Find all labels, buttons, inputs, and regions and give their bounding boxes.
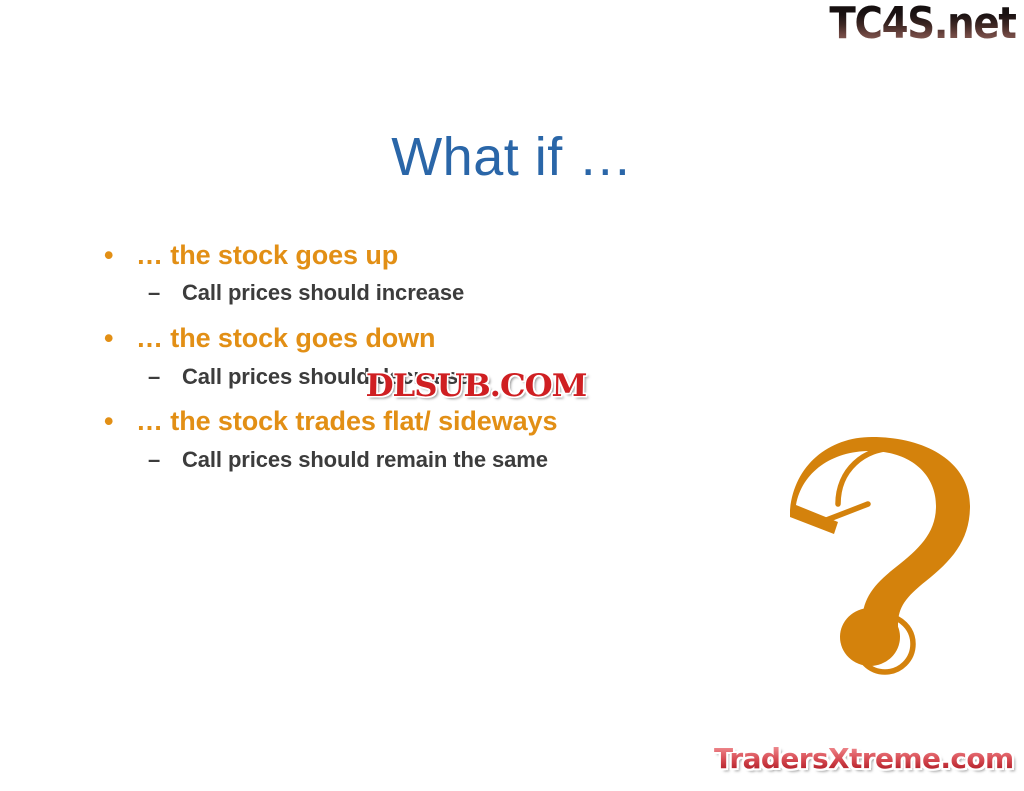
- bullet-level1-label: … the stock trades flat/ sideways: [136, 406, 557, 436]
- dash-marker-icon: –: [148, 361, 160, 393]
- bullet-group: • … the stock goes up – Call prices shou…: [96, 236, 796, 309]
- watermark-tradersxtreme: TradersXtreme.com: [714, 745, 1014, 773]
- dash-marker-icon: –: [148, 444, 160, 476]
- bullet-level2: – Call prices should remain the same: [96, 444, 796, 476]
- watermark-dlsub: DLSUB.COM: [365, 371, 586, 402]
- slide-title: What if …: [0, 128, 1024, 187]
- bullet-level2-label: Call prices should increase: [182, 280, 464, 305]
- bullet-level2: – Call prices should increase: [96, 277, 796, 309]
- bullet-dot-icon: •: [104, 319, 113, 357]
- bullet-dot-icon: •: [104, 402, 113, 440]
- question-mark-icon: [772, 418, 982, 680]
- bullet-dot-icon: •: [104, 236, 113, 274]
- bullet-level1-label: … the stock goes up: [136, 240, 398, 270]
- bullet-level2-label: Call prices should remain the same: [182, 447, 548, 472]
- bullet-level1: • … the stock goes up: [96, 236, 796, 274]
- bullet-level1-label: … the stock goes down: [136, 323, 435, 353]
- bullet-group: • … the stock trades flat/ sideways – Ca…: [96, 402, 796, 475]
- bullet-level1: • … the stock trades flat/ sideways: [96, 402, 796, 440]
- bullet-list: • … the stock goes up – Call prices shou…: [96, 236, 796, 486]
- brand-logo-tc4s: TC4S.net: [830, 2, 1016, 46]
- bullet-level1: • … the stock goes down: [96, 319, 796, 357]
- dash-marker-icon: –: [148, 277, 160, 309]
- slide-canvas: TC4S.net What if … • … the stock goes up…: [0, 0, 1024, 791]
